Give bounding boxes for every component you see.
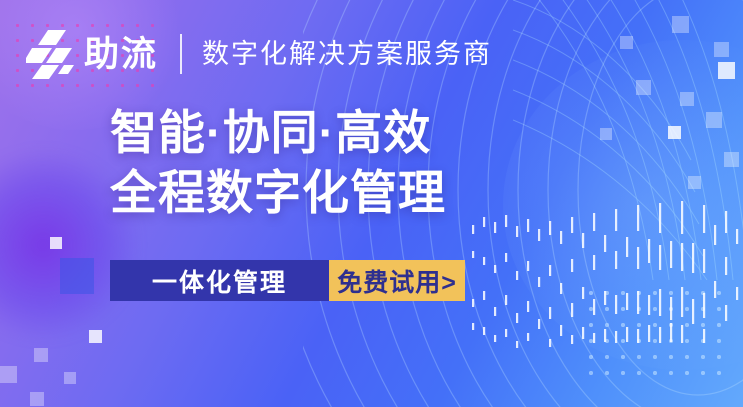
- blue-glow-right: [503, 40, 743, 370]
- floating-square: [724, 152, 739, 167]
- floating-square: [64, 372, 76, 384]
- light-dot-grid: [583, 285, 725, 385]
- headline-line-2: 全程数字化管理: [110, 163, 446, 223]
- free-trial-button[interactable]: 免费试用>: [329, 260, 465, 301]
- floating-square: [688, 176, 701, 189]
- header-tagline: 数字化解决方案服务商: [202, 41, 492, 68]
- headline-block: 智能·协同·高效 全程数字化管理: [110, 103, 446, 223]
- floating-square: [89, 330, 102, 343]
- dotted-sine-wave: [470, 195, 743, 355]
- header-divider: [180, 34, 182, 74]
- headline-line-1: 智能·协同·高效: [110, 103, 446, 163]
- floating-square: [636, 80, 651, 95]
- floating-square: [668, 126, 681, 139]
- integrated-management-button[interactable]: 一体化管理: [110, 260, 329, 301]
- floating-square: [50, 237, 62, 249]
- floating-square: [714, 42, 729, 57]
- curved-mesh-lines: [513, 0, 743, 280]
- floating-square: [30, 392, 44, 406]
- floating-square: [34, 348, 48, 362]
- floating-square: [706, 112, 722, 128]
- floating-square: [680, 92, 694, 106]
- logo-wordmark: 助流: [84, 37, 158, 72]
- floating-square: [718, 62, 735, 79]
- lightning-bolt-logo-icon: [26, 29, 78, 79]
- floating-square: [620, 36, 633, 49]
- floating-square: [600, 128, 612, 140]
- floating-square: [0, 366, 17, 383]
- promo-banner: 助流 数字化解决方案服务商 智能·协同·高效 全程数字化管理 一体化管理 免费试…: [0, 0, 743, 407]
- brand-header: 助流 数字化解决方案服务商: [26, 28, 492, 80]
- floating-square: [60, 258, 94, 294]
- floating-square: [672, 16, 689, 33]
- cta-row: 一体化管理 免费试用>: [110, 260, 465, 301]
